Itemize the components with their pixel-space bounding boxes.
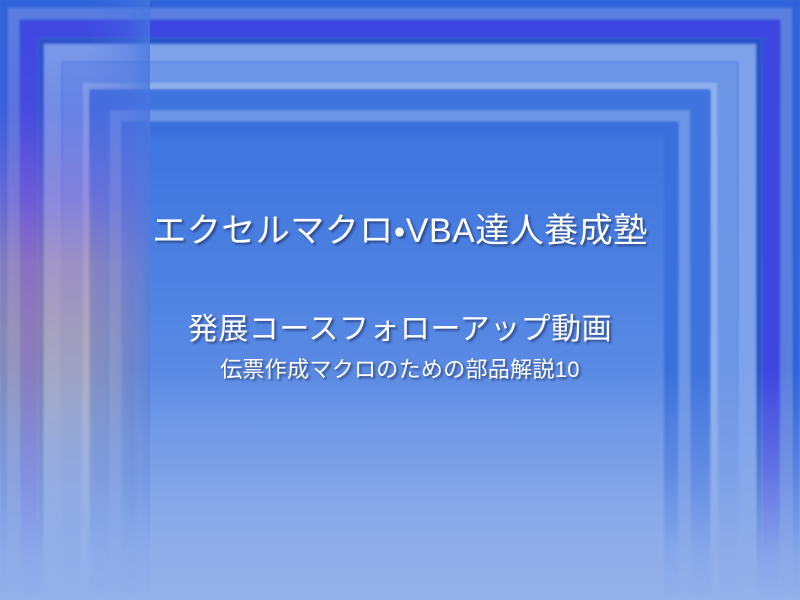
slide-main-title: エクセルマクロ・VBA達人養成塾 <box>0 210 800 253</box>
slide-sub-title-secondary: 伝票作成マクロのための部品解説10 <box>0 356 800 384</box>
title-block: エクセルマクロ・VBA達人養成塾 発展コースフォローアップ動画 伝票作成マクロの… <box>0 210 800 384</box>
title-slide: エクセルマクロ・VBA達人養成塾 発展コースフォローアップ動画 伝票作成マクロの… <box>0 0 800 600</box>
bottom-fade-overlay <box>0 370 800 600</box>
slide-sub-title: 発展コースフォローアップ動画 <box>0 311 800 349</box>
